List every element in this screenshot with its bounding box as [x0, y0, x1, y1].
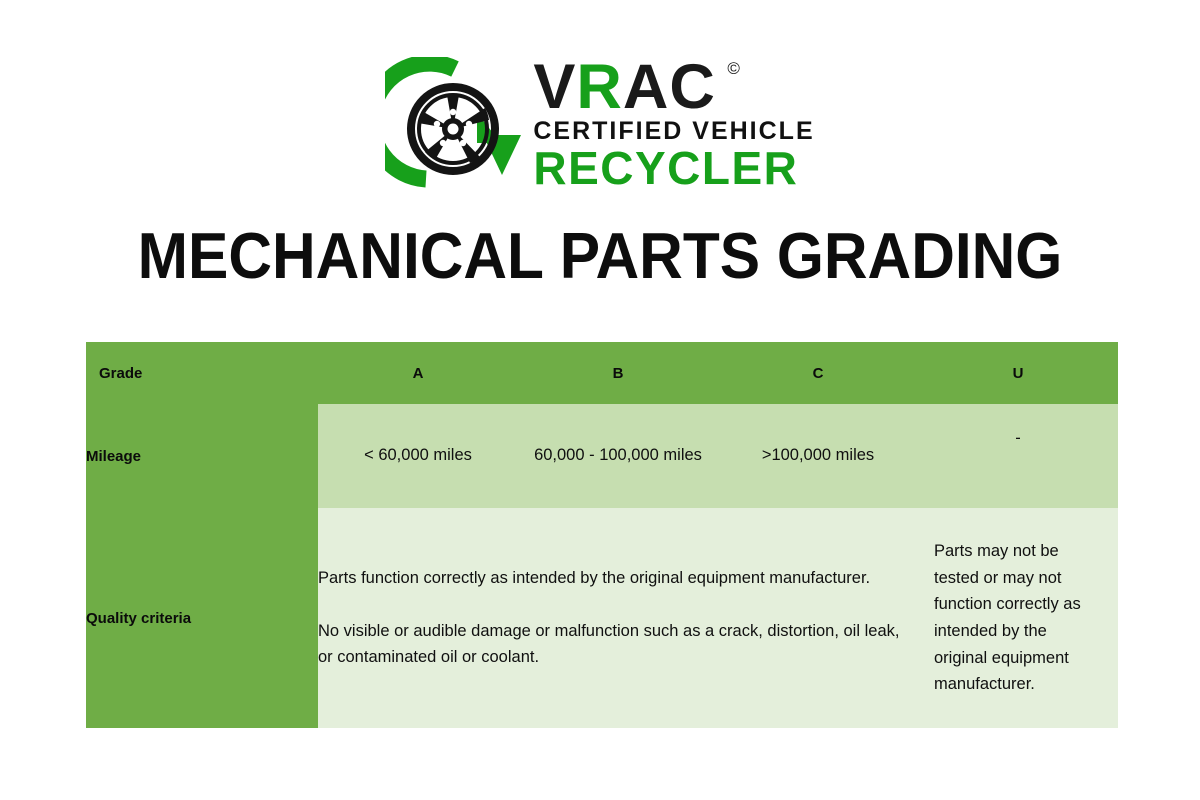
column-header-b: B	[518, 342, 718, 404]
quality-paragraph-1: Parts function correctly as intended by …	[318, 565, 918, 592]
copyright-icon: ©	[727, 61, 740, 77]
column-header-a: A	[318, 342, 518, 404]
cell-quality-abc: Parts function correctly as intended by …	[318, 508, 918, 728]
vrac-logo: VRAC© CERTIFIED VEHICLE RECYCLER	[0, 52, 1200, 202]
mechanical-parts-grading-table: Grade A B C U Mileage < 60,000 miles 60,…	[86, 342, 1118, 728]
cell-quality-u: Parts may not be tested or may not funct…	[918, 508, 1118, 728]
table-row-mileage: Mileage < 60,000 miles 60,000 - 100,000 …	[86, 404, 1118, 508]
cell-mileage-a: < 60,000 miles	[318, 404, 518, 508]
row-label-mileage: Mileage	[86, 404, 318, 508]
logo-vrac-text: VRAC©	[533, 59, 716, 117]
logo-tagline: CERTIFIED VEHICLE	[533, 119, 814, 144]
logo-letter-v: V	[533, 52, 576, 122]
column-header-c: C	[718, 342, 918, 404]
logo-letters-ac: AC	[623, 52, 716, 122]
grading-poster: VRAC© CERTIFIED VEHICLE RECYCLER MECHANI…	[0, 0, 1200, 800]
column-header-u: U	[918, 342, 1118, 404]
row-label-quality-criteria: Quality criteria	[86, 508, 318, 728]
cell-mileage-u: -	[918, 404, 1118, 508]
cell-mileage-b: 60,000 - 100,000 miles	[518, 404, 718, 508]
logo-inner: VRAC© CERTIFIED VEHICLE RECYCLER	[385, 57, 814, 197]
wheel-recycle-icon	[385, 57, 525, 197]
quality-paragraph-2: No visible or audible damage or malfunct…	[318, 618, 918, 671]
page-title: MECHANICAL PARTS GRADING	[42, 218, 1158, 293]
table-header-row: Grade A B C U	[86, 342, 1118, 404]
cell-mileage-c: >100,000 miles	[718, 404, 918, 508]
column-header-grade: Grade	[86, 342, 318, 404]
logo-brandline: RECYCLER	[533, 145, 798, 191]
table-row-quality-criteria: Quality criteria Parts function correctl…	[86, 508, 1118, 728]
logo-letter-r: R	[576, 52, 623, 122]
logo-wordmark: VRAC© CERTIFIED VEHICLE RECYCLER	[533, 59, 814, 196]
